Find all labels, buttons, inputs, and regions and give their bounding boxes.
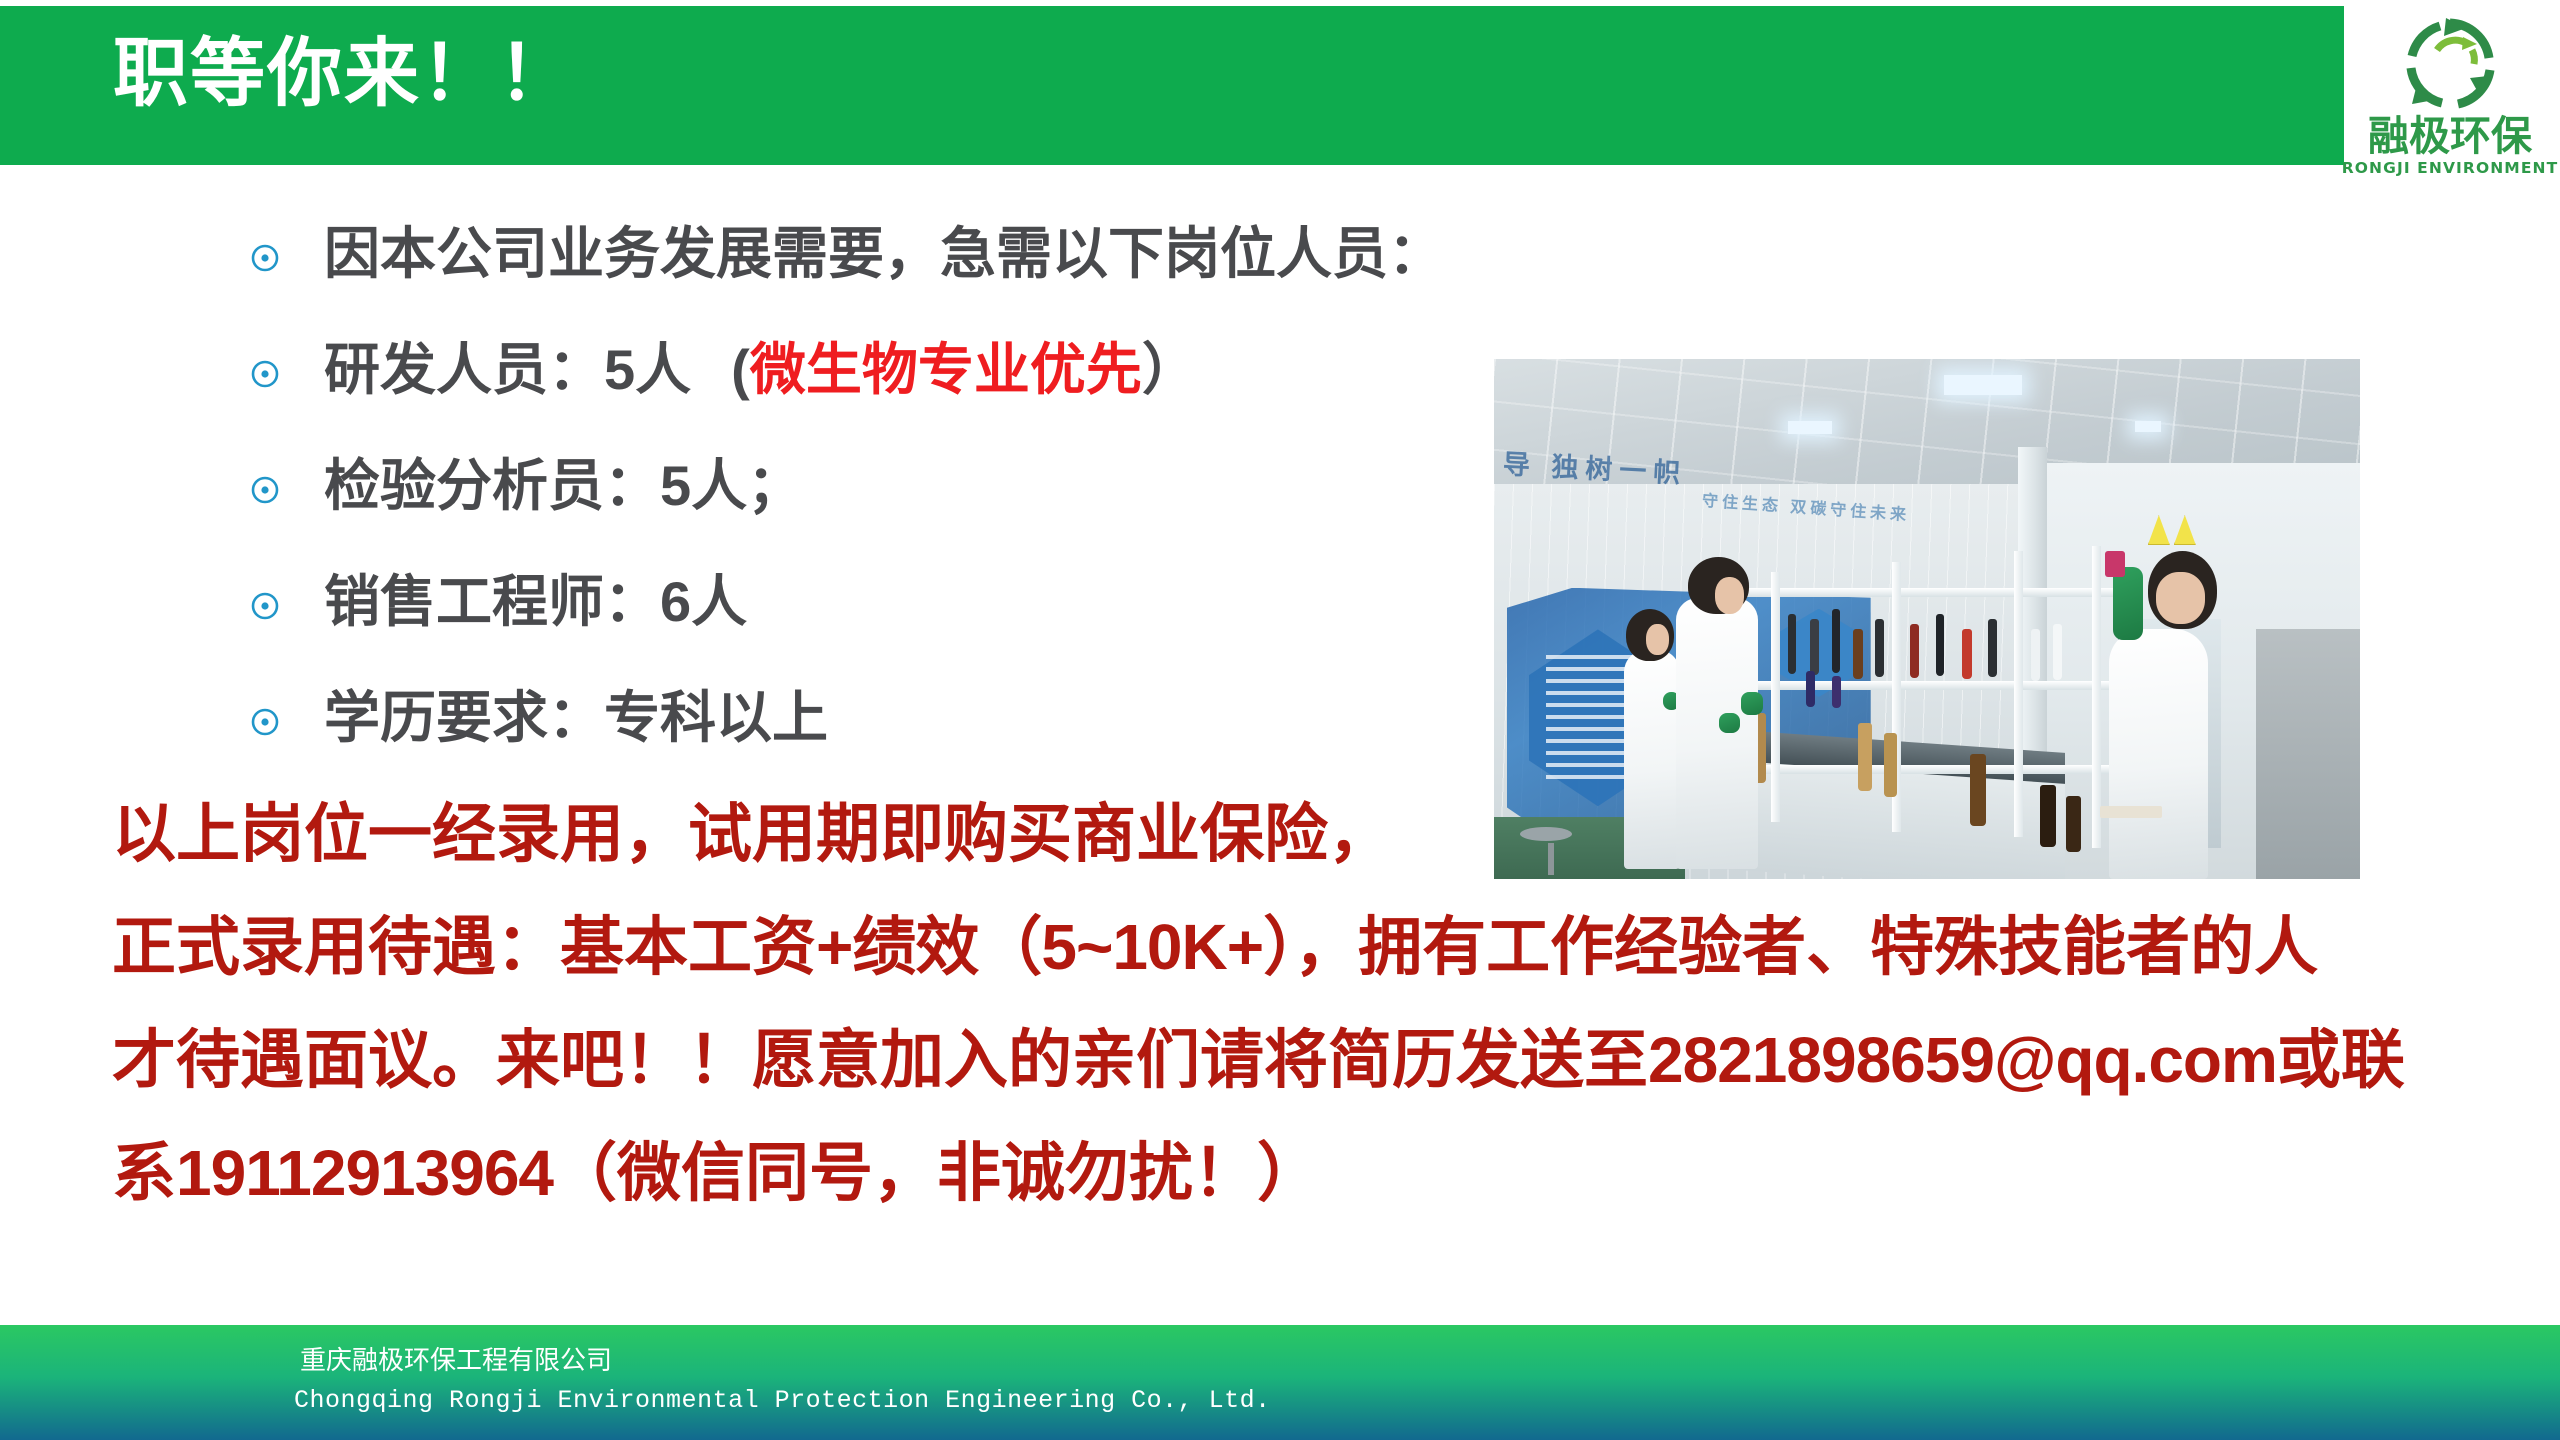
- benefits-line-3: 才待遇面议。来吧！！愿意加入的亲们请将简历发送至2821898659@qq.co…: [112, 1004, 2512, 1117]
- circle-dot-bullet-icon: [250, 707, 280, 737]
- list-item: 检验分析员：5人；: [250, 428, 1500, 544]
- list-item: 因本公司业务发展需要，急需以下岗位人员：: [250, 196, 1500, 312]
- contact-email[interactable]: 2821898659@qq.com: [1648, 1024, 2277, 1096]
- circle-dot-bullet-icon: [250, 243, 280, 273]
- contact-note: （微信同号，非诚勿扰！）: [553, 1138, 1321, 1209]
- list-item: 学历要求：专科以上: [250, 660, 1500, 776]
- circle-dot-bullet-icon: [250, 591, 280, 621]
- list-item-label: 学历要求：专科以上: [324, 689, 828, 748]
- salary-suffix: ，拥有工作经验者、特殊技能者的人: [1294, 912, 2318, 983]
- benefits-line-2: 正式录用待遇：基本工资+绩效（5~10K+），拥有工作经验者、特殊技能者的人: [112, 891, 2512, 1004]
- logo-name-cn: 融极环保: [2368, 116, 2532, 157]
- logo-name-en: RONGJI ENVIRONMENT: [2342, 161, 2559, 177]
- list-item-label: 销售工程师：6人: [324, 573, 747, 632]
- list-item: 销售工程师：6人: [250, 544, 1500, 660]
- contact-prefix: 系: [112, 1138, 176, 1209]
- paren-open: (: [731, 338, 750, 401]
- list-item-label: 因本公司业务发展需要，急需以下岗位人员：: [324, 225, 1444, 284]
- paren-close: ）: [1142, 338, 1198, 401]
- page-title: 职等你来！！: [113, 34, 575, 113]
- company-logo: 融极环保 RONGJI ENVIRONMENT: [2344, 6, 2556, 209]
- recycle-circle-icon: [2398, 14, 2502, 114]
- slide-canvas: 职等你来！！ 融极环保 RONGJI E: [0, 0, 2560, 1440]
- list-item-label-rd: 研发人员：5人(微生物专业优先）: [324, 341, 1198, 400]
- benefits-line-4: 系19112913964（微信同号，非诚勿扰！）: [112, 1117, 2512, 1230]
- circle-dot-bullet-icon: [250, 475, 280, 505]
- footer-company-en: Chongqing Rongji Environmental Protectio…: [294, 1388, 1271, 1413]
- footer-company-cn: 重庆融极环保工程有限公司: [300, 1347, 612, 1373]
- job-list: 因本公司业务发展需要，急需以下岗位人员： 研发人员：5人(微生物专业优先） 检验…: [250, 196, 1500, 776]
- resume-instruction-tail: 或联: [2277, 1025, 2405, 1096]
- rd-role-count: 研发人员：5人: [324, 338, 691, 401]
- benefits-paragraph: 以上岗位一经录用，试用期即购买商业保险， 正式录用待遇：基本工资+绩效（5~10…: [112, 778, 2512, 1230]
- list-item-label: 检验分析员：5人；: [324, 457, 803, 516]
- header-banner: 职等你来！！: [0, 6, 2380, 165]
- resume-instruction: 才待遇面议。来吧！！愿意加入的亲们请将简历发送至: [112, 1025, 1648, 1096]
- footer-band: [0, 1325, 2560, 1440]
- salary-range: +绩效（5~10K+）: [816, 911, 1294, 983]
- circle-dot-bullet-icon: [250, 359, 280, 389]
- list-item: 研发人员：5人(微生物专业优先）: [250, 312, 1500, 428]
- contact-phone[interactable]: 19112913964: [176, 1137, 553, 1209]
- salary-prefix: 正式录用待遇：基本工资: [112, 912, 816, 983]
- rd-preference-note: 微生物专业优先: [750, 338, 1142, 401]
- benefits-line-1: 以上岗位一经录用，试用期即购买商业保险，: [112, 778, 2512, 891]
